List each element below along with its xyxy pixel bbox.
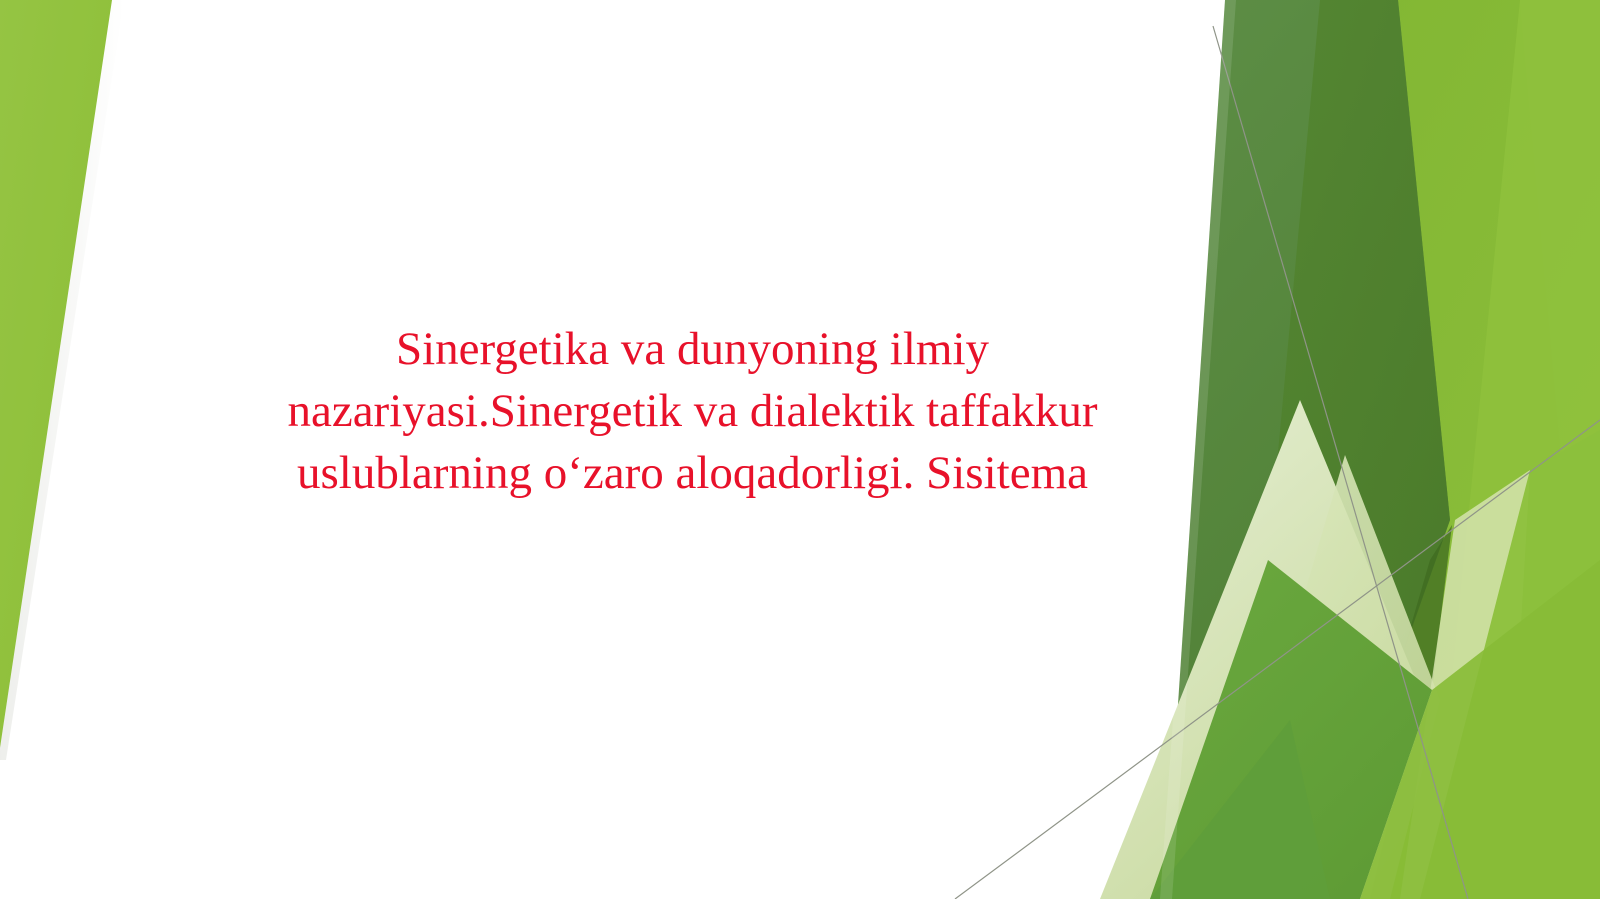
title-line-1: Sinergetika va dunyoning ilmiy bbox=[396, 318, 989, 380]
title-line-2: nazariyasi.Sinergetik va dialektik taffa… bbox=[287, 380, 1097, 442]
title-line-3: uslublarning oʻzaro aloqadorligi. Sisite… bbox=[297, 442, 1088, 504]
slide-canvas: Sinergetika va dunyoning ilmiy nazariyas… bbox=[0, 0, 1600, 899]
slide-title: Sinergetika va dunyoning ilmiy nazariyas… bbox=[215, 318, 1170, 548]
